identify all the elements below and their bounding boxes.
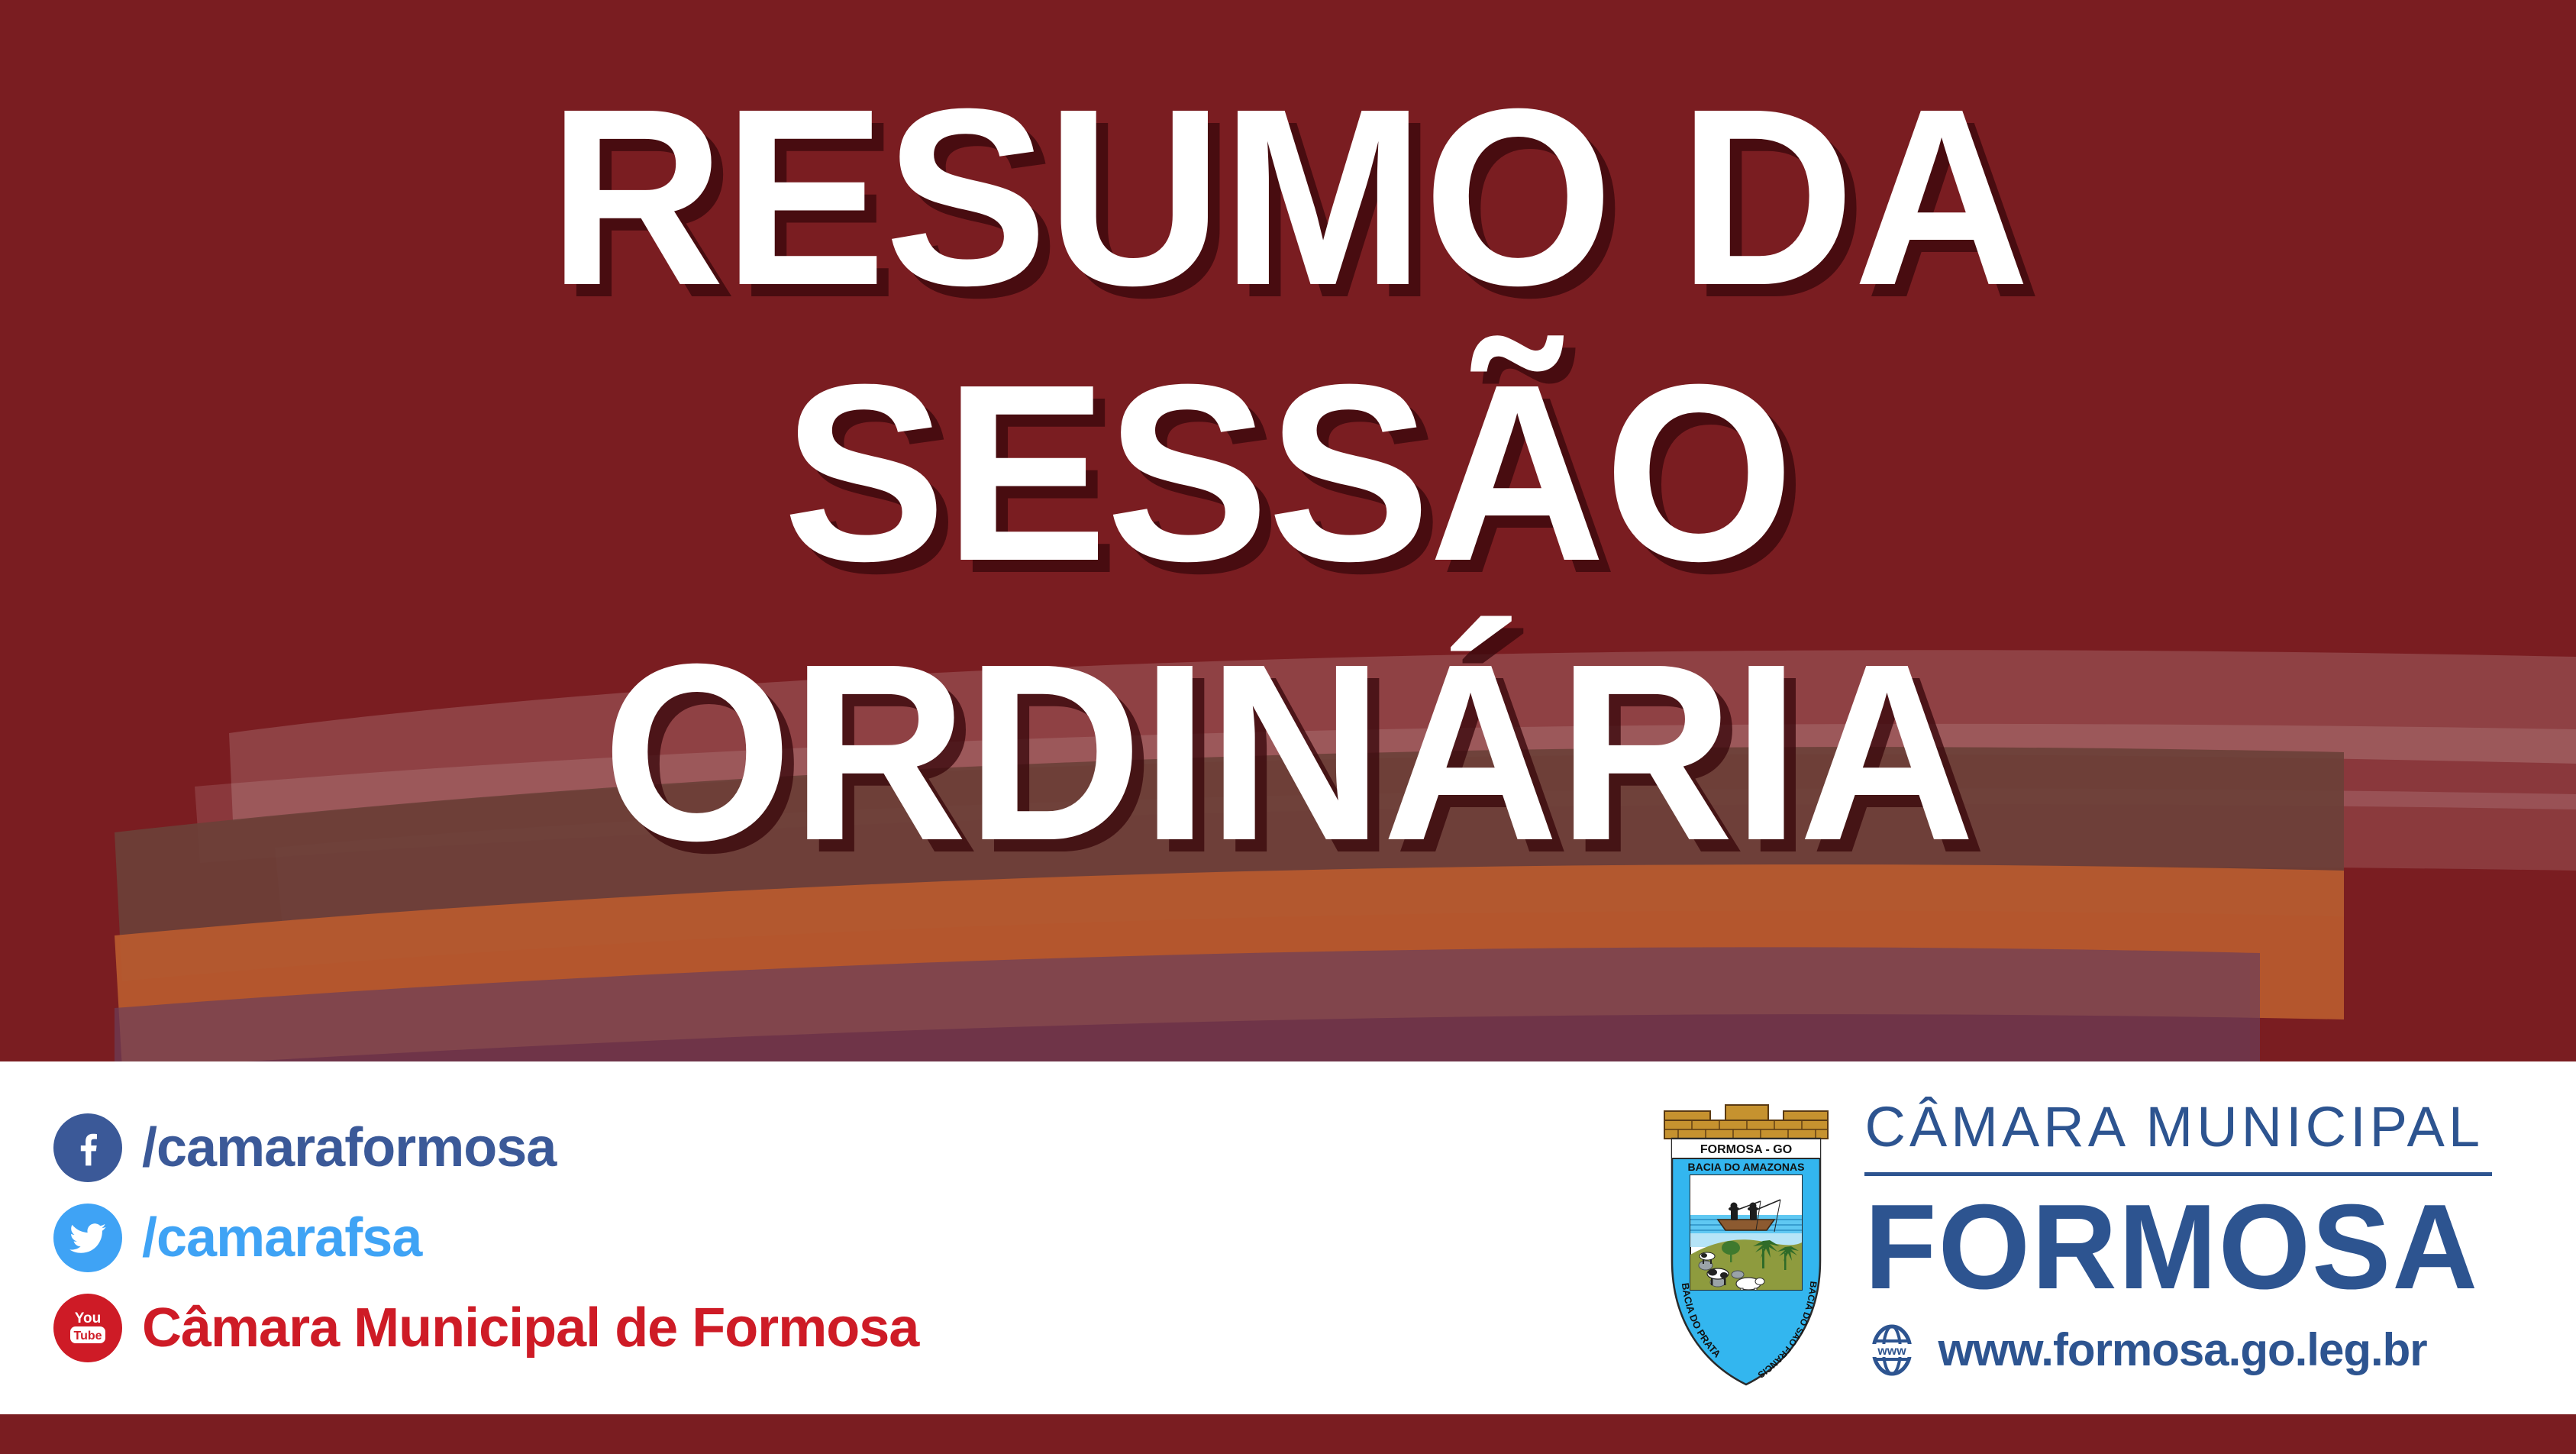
hero-title-line-3: ORDINÁRIA (602, 628, 1974, 875)
footer-bar: /camaraformosa /camarafsa You (0, 1061, 2576, 1414)
logo-text-block: CÂMARA MUNICIPAL FORMOSA www (1864, 1099, 2492, 1378)
website-url: www.formosa.go.leg.br (1938, 1327, 2426, 1373)
youtube-channel-name: Câmara Municipal de Formosa (142, 1301, 918, 1355)
svg-text:Tube: Tube (73, 1330, 102, 1343)
www-globe-icon: www (1864, 1323, 1919, 1378)
facebook-icon (53, 1113, 122, 1182)
hero-title-stack: RESUMO DA SESSÃO ORDINÁRIA (0, 0, 2576, 1061)
social-link-facebook[interactable]: /camaraformosa (53, 1113, 918, 1182)
facebook-handle: /camaraformosa (142, 1120, 556, 1175)
social-links-list: /camaraformosa /camarafsa You (53, 1113, 918, 1362)
formosa-coat-of-arms-icon: FORMOSA - GO BACIA DO AMAZONAS (1658, 1085, 1834, 1391)
institution-logo: FORMOSA - GO BACIA DO AMAZONAS (1658, 1085, 2492, 1391)
banner-root: RESUMO DA SESSÃO ORDINÁRIA /camaraformos… (0, 0, 2576, 1454)
hero-title-line-2: SESSÃO (783, 349, 1793, 596)
svg-text:www: www (1877, 1345, 1907, 1358)
twitter-icon (53, 1204, 122, 1272)
youtube-icon: You Tube (53, 1294, 122, 1362)
svg-text:FORMOSA - GO: FORMOSA - GO (1700, 1143, 1792, 1156)
social-link-twitter[interactable]: /camarafsa (53, 1204, 918, 1272)
bottom-accent-strip (0, 1414, 2576, 1454)
hero-section: RESUMO DA SESSÃO ORDINÁRIA (0, 0, 2576, 1061)
hero-title-line-1: RESUMO DA (548, 73, 2029, 320)
svg-text:You: You (75, 1310, 101, 1326)
social-link-youtube[interactable]: You Tube Câmara Municipal de Formosa (53, 1294, 918, 1362)
website-row[interactable]: www www.formosa.go.leg.br (1864, 1323, 2426, 1378)
institution-name: CÂMARA MUNICIPAL (1864, 1099, 2484, 1155)
twitter-handle: /camarafsa (142, 1210, 421, 1265)
logo-divider (1864, 1172, 2492, 1176)
svg-text:BACIA DO AMAZONAS: BACIA DO AMAZONAS (1688, 1161, 1805, 1173)
city-wordmark: FORMOSA (1864, 1187, 2479, 1307)
